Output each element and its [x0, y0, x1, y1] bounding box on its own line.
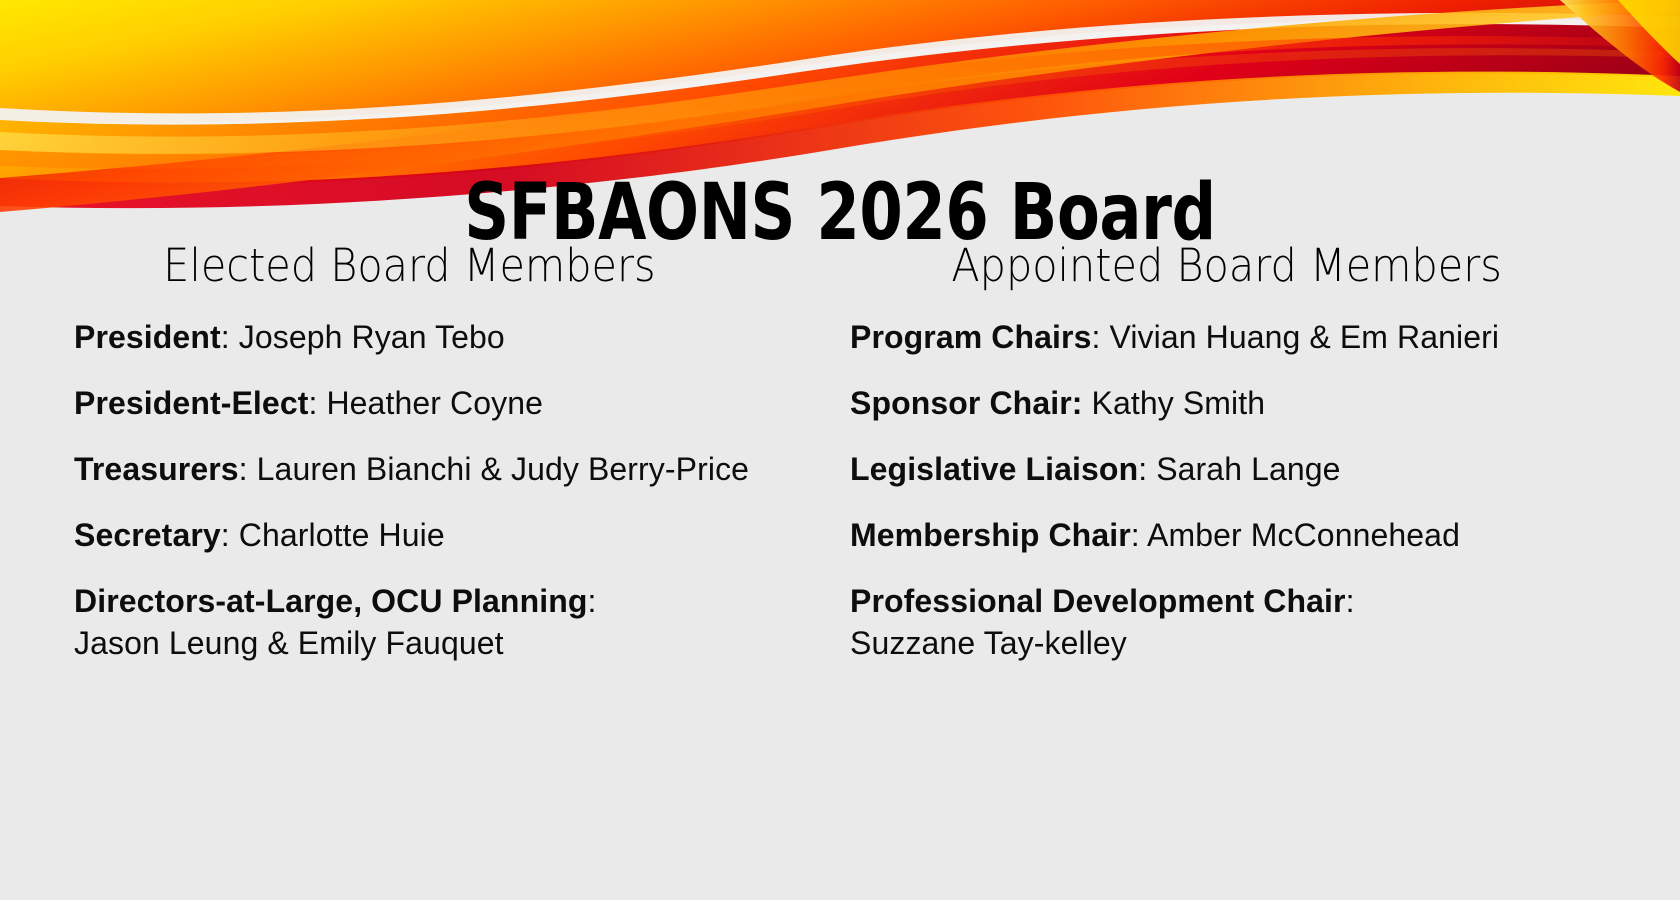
member-role: Legislative Liaison [850, 451, 1138, 487]
member-name: Amber McConnehead [1147, 517, 1460, 553]
appointed-board-column: Appointed Board Members Program Chairs: … [840, 238, 1680, 688]
list-item: Program Chairs: Vivian Huang & Em Ranier… [850, 316, 1640, 358]
member-role: Program Chairs [850, 319, 1091, 355]
board-columns: Elected Board Members President: Joseph … [0, 238, 1680, 688]
appointed-member-list: Program Chairs: Vivian Huang & Em Ranier… [850, 316, 1640, 664]
list-item: Professional Development Chair:Suzzane T… [850, 580, 1640, 664]
role-separator: : [1072, 385, 1092, 421]
member-name: Heather Coyne [326, 385, 543, 421]
role-separator: : [588, 583, 597, 619]
wave-band-upper [0, 0, 1680, 123]
member-name: Sarah Lange [1156, 451, 1340, 487]
member-name: Charlotte Huie [239, 517, 445, 553]
role-separator: : [308, 385, 326, 421]
role-separator: : [239, 451, 257, 487]
role-separator: : [1138, 451, 1156, 487]
wave-accent-streak-2 [0, 48, 1680, 169]
member-role: Treasurers [74, 451, 239, 487]
list-item: Directors-at-Large, OCU Planning:Jason L… [74, 580, 800, 664]
member-name: Suzzane Tay-kelley [850, 622, 1640, 664]
role-separator: : [221, 319, 239, 355]
list-item: Sponsor Chair: Kathy Smith [850, 382, 1640, 424]
member-role: President [74, 319, 221, 355]
elected-board-column: Elected Board Members President: Joseph … [0, 238, 840, 688]
list-item: Secretary: Charlotte Huie [74, 514, 800, 556]
list-item: President-Elect: Heather Coyne [74, 382, 800, 424]
elected-member-list: President: Joseph Ryan Tebo President-El… [74, 316, 800, 664]
wave-right-flare-inner [1618, 0, 1680, 64]
member-name: Kathy Smith [1092, 385, 1266, 421]
member-name: Vivian Huang & Em Ranieri [1109, 319, 1499, 355]
member-name: Lauren Bianchi & Judy Berry-Price [257, 451, 749, 487]
role-separator: : [1346, 583, 1355, 619]
presentation-slide: SFBAONS 2026 Board Elected Board Members… [0, 0, 1680, 900]
role-separator: : [1091, 319, 1109, 355]
wave-accent-streak-1 [0, 36, 1680, 154]
list-item: Legislative Liaison: Sarah Lange [850, 448, 1640, 490]
appointed-column-header: Appointed Board Members [882, 238, 1609, 294]
wave-band-main [0, 24, 1680, 186]
list-item: President: Joseph Ryan Tebo [74, 316, 800, 358]
member-role: Sponsor Chair [850, 385, 1072, 421]
member-role: Secretary [74, 517, 221, 553]
member-role: Directors-at-Large, OCU Planning [74, 583, 588, 619]
member-name: Jason Leung & Emily Fauquet [74, 622, 800, 664]
list-item: Treasurers: Lauren Bianchi & Judy Berry-… [74, 448, 800, 490]
member-name: Joseph Ryan Tebo [239, 319, 505, 355]
wave-right-flare [1560, 0, 1680, 92]
wave-highlight-gap [0, 13, 1680, 130]
elected-column-header: Elected Board Members [103, 238, 771, 294]
role-separator: : [1131, 517, 1147, 553]
member-role: President-Elect [74, 385, 308, 421]
member-role: Membership Chair [850, 517, 1131, 553]
member-role: Professional Development Chair [850, 583, 1346, 619]
role-separator: : [221, 517, 239, 553]
list-item: Membership Chair: Amber McConnehead [850, 514, 1640, 556]
